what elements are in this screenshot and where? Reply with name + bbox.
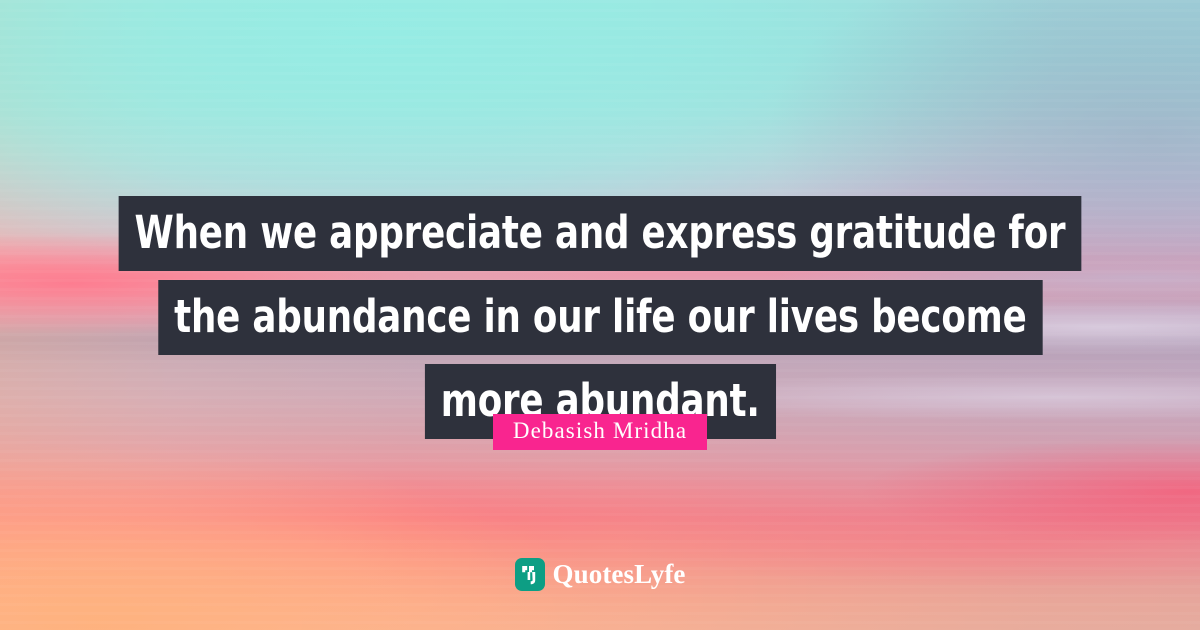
author-name-badge: Debasish Mridha <box>493 414 707 450</box>
brand-watermark[interactable]: QuotesLyfe <box>0 558 1200 591</box>
author-attribution-row: Debasish Mridha <box>0 414 1200 450</box>
brand-name-label: QuotesLyfe <box>553 561 686 588</box>
quote-line-1: When we appreciate and express gratitude… <box>119 196 1082 271</box>
quote-mark-icon <box>515 558 545 591</box>
quote-text-block: When we appreciate and express gratitude… <box>0 196 1200 448</box>
quote-line-2: the abundance in our life our lives beco… <box>158 280 1042 355</box>
quote-card: When we appreciate and express gratitude… <box>0 0 1200 630</box>
